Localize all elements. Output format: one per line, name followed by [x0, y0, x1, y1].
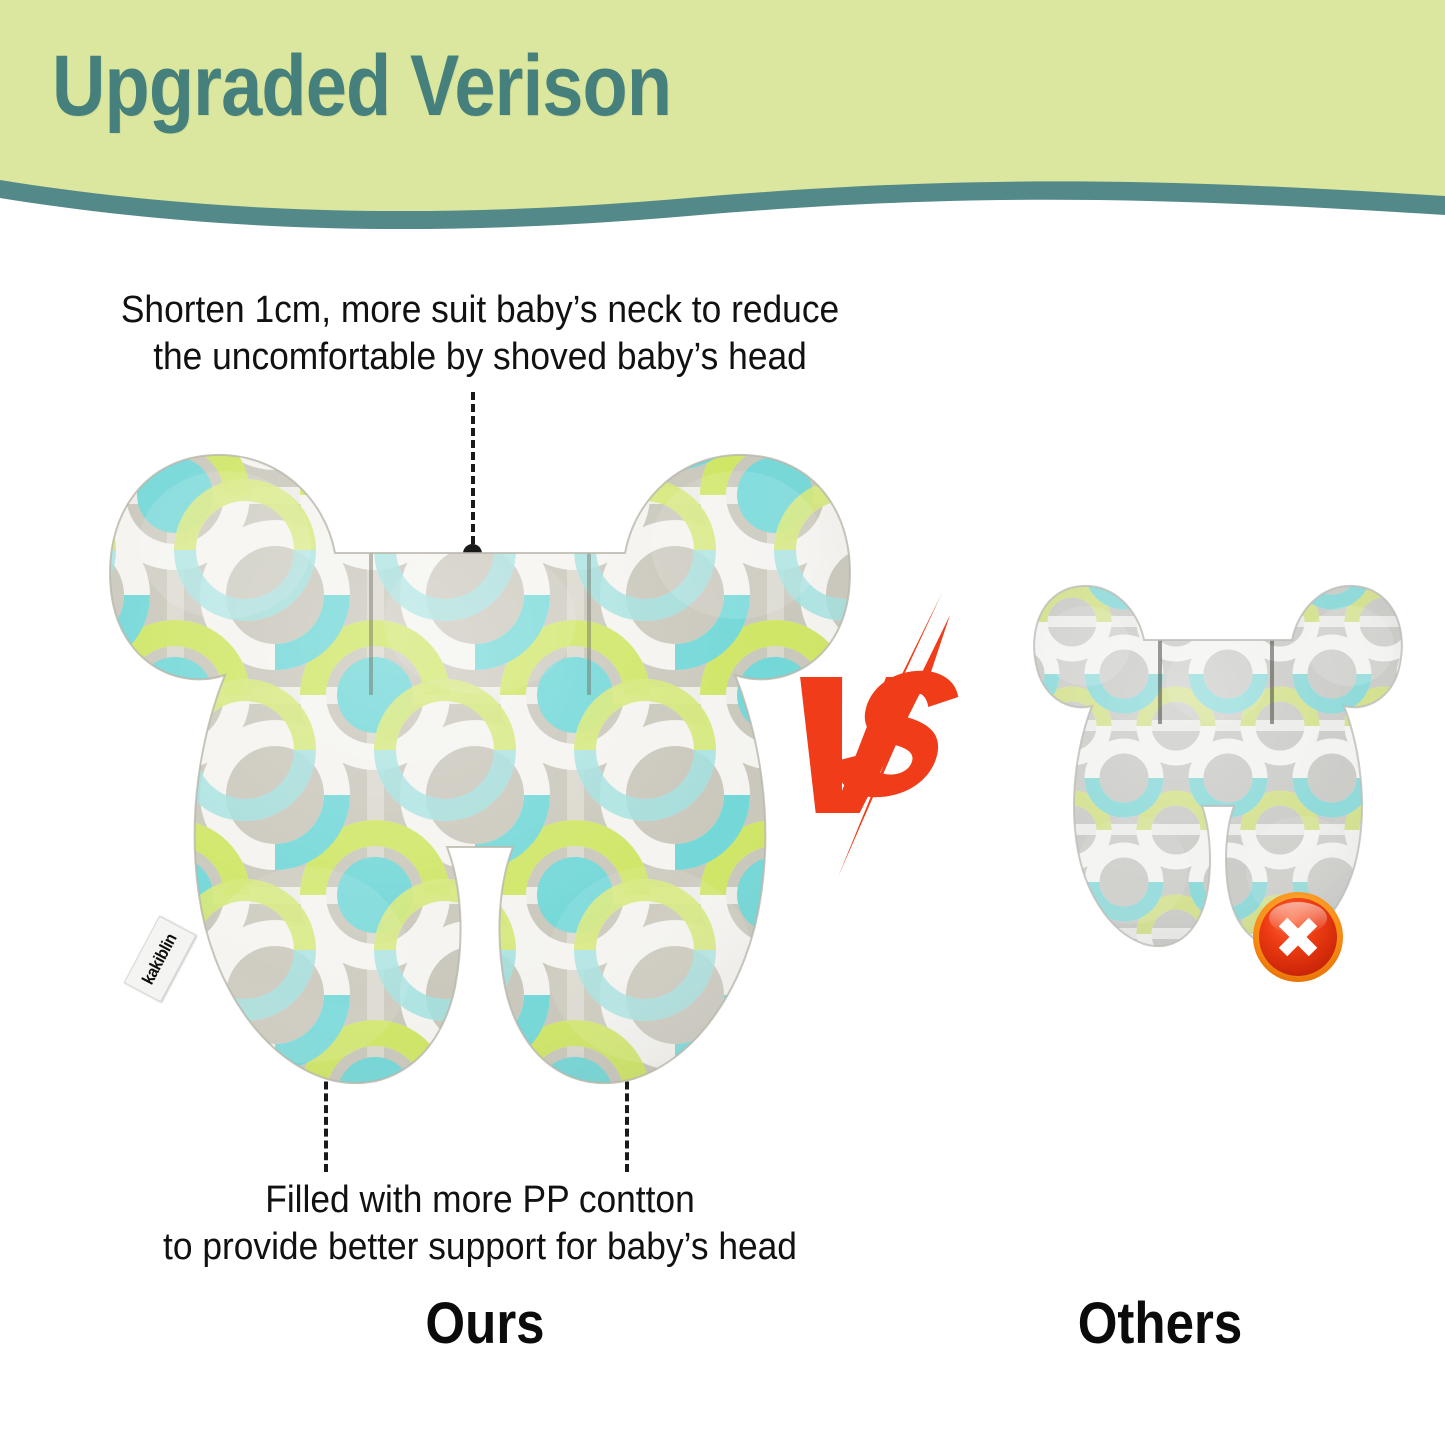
pillow-ours-svg — [75, 395, 885, 1155]
product-image-ours — [75, 395, 885, 1155]
annotation-bottom-line1: Filled with more PP contton — [34, 1177, 927, 1224]
reject-badge-icon — [1252, 891, 1344, 983]
vs-svg — [790, 585, 990, 885]
pillow-body — [1020, 570, 1410, 970]
x-badge-svg — [1252, 891, 1344, 983]
infographic-page: Upgraded Verison Shorten 1cm, more suit … — [0, 0, 1445, 1445]
annotation-top-line2: the uncomfortable by shoved baby’s head — [34, 334, 927, 381]
annotation-top: Shorten 1cm, more suit baby’s neck to re… — [34, 287, 927, 381]
page-title: Upgraded Verison — [52, 38, 671, 134]
header-banner: Upgraded Verison — [0, 0, 1445, 250]
annotation-bottom-line2: to provide better support for baby’s hea… — [34, 1224, 927, 1271]
vs-badge — [790, 585, 990, 885]
label-others: Others — [984, 1293, 1336, 1355]
vs-letter-s — [829, 671, 964, 797]
annotation-top-line1: Shorten 1cm, more suit baby’s neck to re… — [34, 287, 927, 334]
annotation-bottom: Filled with more PP contton to provide b… — [34, 1177, 927, 1271]
label-ours: Ours — [309, 1293, 661, 1355]
pillow-others-svg — [1020, 570, 1410, 970]
product-image-others — [1020, 570, 1410, 970]
pillow-body — [75, 395, 885, 1155]
